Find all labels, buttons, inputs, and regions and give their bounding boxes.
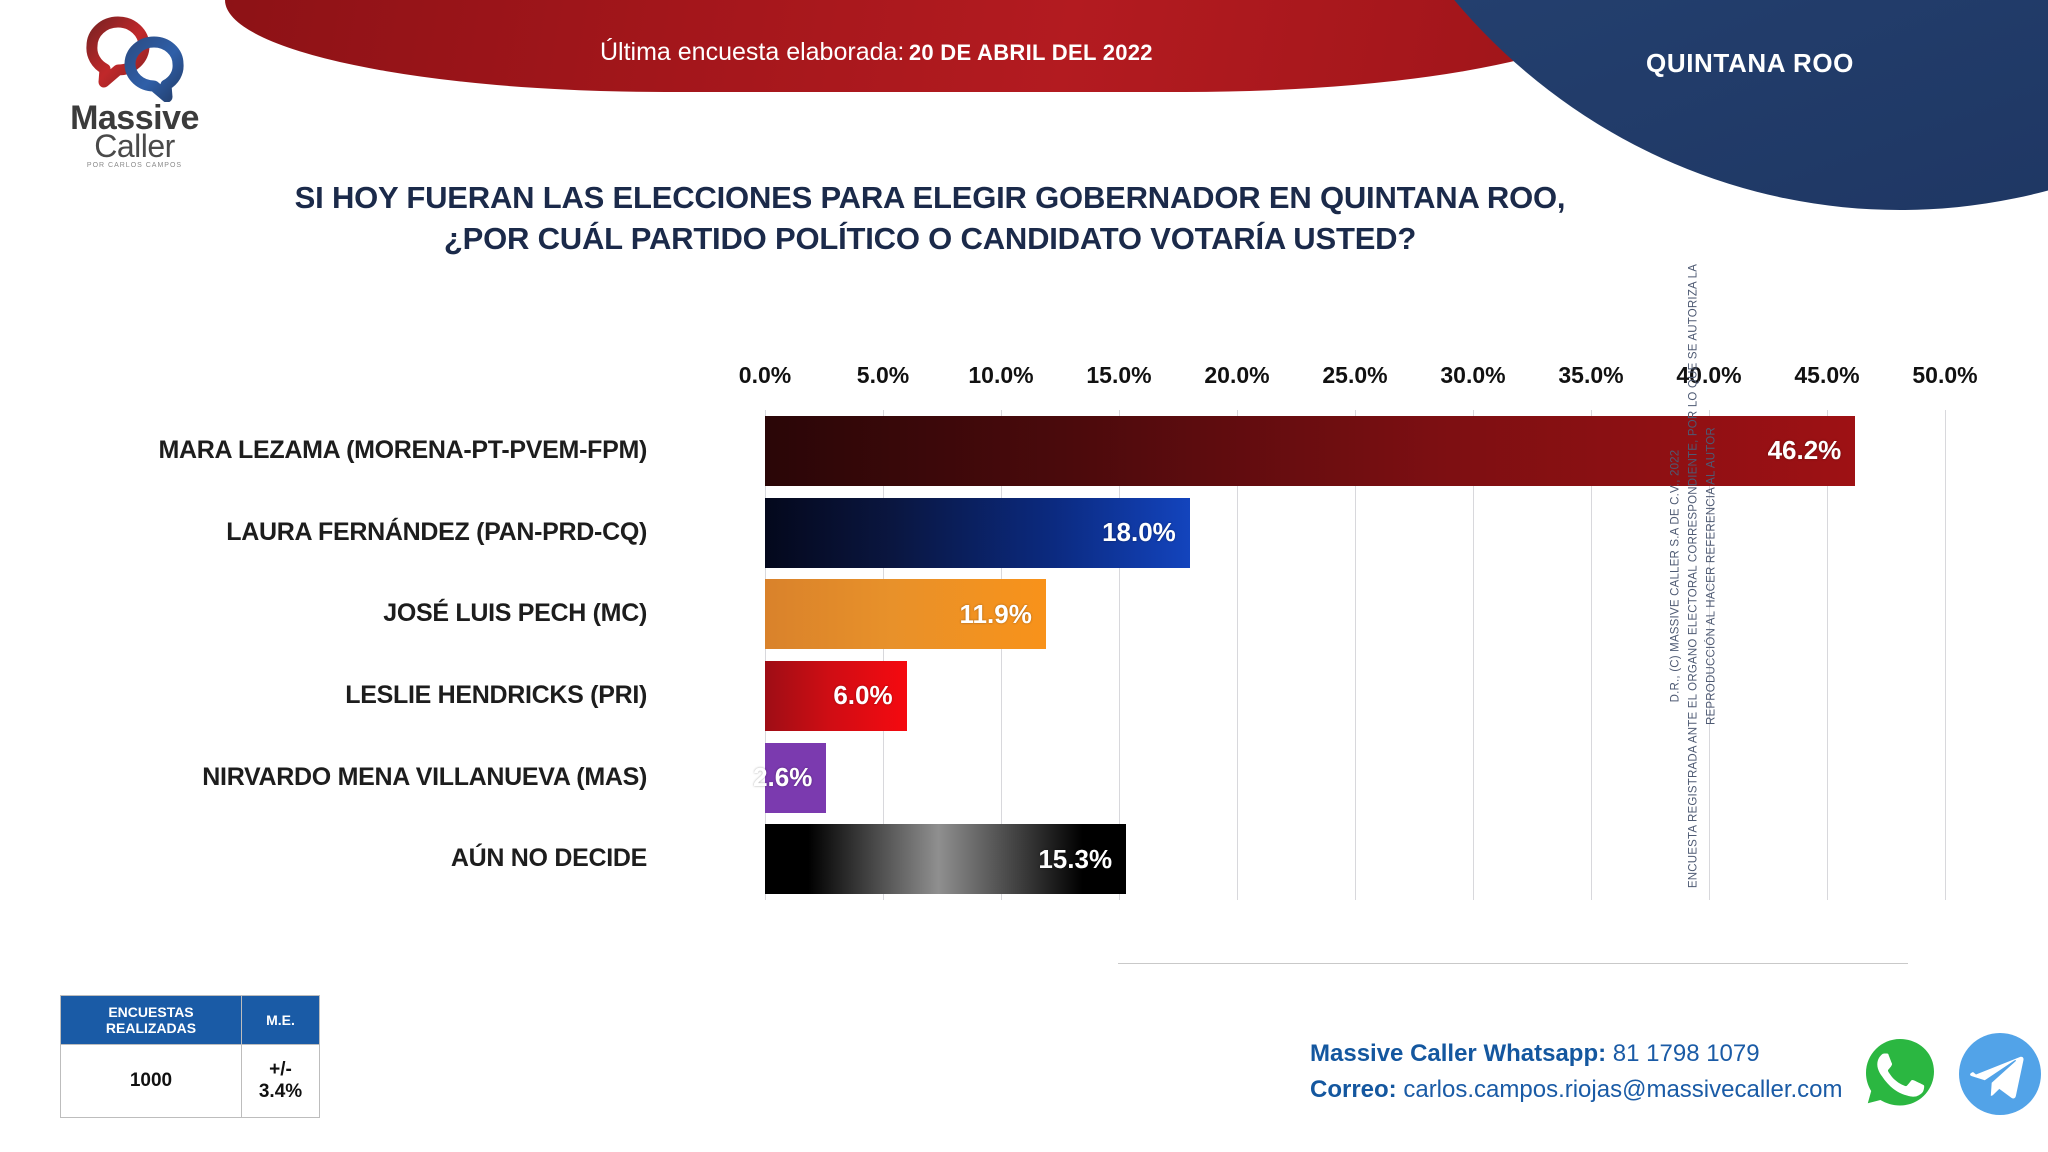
logo-subtitle: POR CARLOS CAMPOS bbox=[62, 162, 207, 169]
col-header-me: M.E. bbox=[242, 996, 320, 1045]
speech-bubbles-logo-icon bbox=[80, 16, 190, 102]
legal-line-2: ENCUESTA REGISTRADA ANTE EL ORGANO ELECT… bbox=[1685, 226, 1721, 926]
contact-whatsapp-line: Massive Caller Whatsapp: 81 1798 1079 bbox=[1310, 1036, 1843, 1072]
bar-value-label: 2.6% bbox=[753, 762, 812, 793]
bar-category-label: LAURA FERNÁNDEZ (PAN-PRD-CQ) bbox=[0, 518, 647, 547]
bar-value-label: 15.3% bbox=[1038, 844, 1112, 875]
x-tick-label: 10.0% bbox=[968, 362, 1033, 389]
chart-bar-row: 18.0%LAURA FERNÁNDEZ (PAN-PRD-CQ) bbox=[765, 498, 1945, 568]
chart-bar[interactable]: 11.9% bbox=[765, 579, 1046, 649]
telegram-icon[interactable] bbox=[1957, 1031, 2043, 1117]
chart-bar-row: 6.0%LESLIE HENDRICKS (PRI) bbox=[765, 661, 1945, 731]
chart-bar[interactable]: 15.3% bbox=[765, 824, 1126, 894]
contact-email-label: Correo: bbox=[1310, 1076, 1397, 1103]
bar-category-label: LESLIE HENDRICKS (PRI) bbox=[0, 681, 647, 710]
chart-bar-row: 11.9%JOSÉ LUIS PECH (MC) bbox=[765, 579, 1945, 649]
x-tick-label: 25.0% bbox=[1322, 362, 1387, 389]
cell-encuestas-value: 1000 bbox=[61, 1045, 242, 1118]
chart-bar[interactable]: 18.0% bbox=[765, 498, 1190, 568]
x-tick-label: 35.0% bbox=[1558, 362, 1623, 389]
bar-value-label: 6.0% bbox=[833, 680, 892, 711]
bar-value-label: 18.0% bbox=[1102, 517, 1176, 548]
bar-value-label: 46.2% bbox=[1768, 435, 1842, 466]
survey-stats-table: ENCUESTAS REALIZADAS M.E. 1000 +/- 3.4% bbox=[60, 995, 320, 1118]
x-tick-label: 45.0% bbox=[1794, 362, 1859, 389]
legal-line-1: D.R., (C) MASSIVE CALLER S.A DE C.V., 20… bbox=[1667, 226, 1685, 926]
last-poll-date: 20 DE ABRIL DEL 2022 bbox=[909, 40, 1153, 65]
last-poll-label: Última encuesta elaborada: bbox=[600, 38, 904, 66]
logo-text-caller: Caller bbox=[62, 131, 207, 161]
contact-whatsapp-value: 81 1798 1079 bbox=[1613, 1040, 1760, 1067]
bar-category-label: AÚN NO DECIDE bbox=[0, 844, 647, 873]
bar-category-label: NIRVARDO MENA VILLANUEVA (MAS) bbox=[0, 763, 647, 792]
footer-divider bbox=[1118, 963, 1908, 964]
poll-bar-chart: 0.0%5.0%10.0%15.0%20.0%25.0%30.0%35.0%40… bbox=[0, 330, 2048, 930]
x-tick-label: 20.0% bbox=[1204, 362, 1269, 389]
social-icons bbox=[1855, 1028, 2045, 1118]
page-title-line-2: ¿POR CUÁL PARTIDO POLÍTICO O CANDIDATO V… bbox=[80, 219, 1780, 260]
state-name: QUINTANA ROO bbox=[1600, 48, 1900, 79]
x-tick-label: 0.0% bbox=[739, 362, 791, 389]
col-header-encuestas: ENCUESTAS REALIZADAS bbox=[61, 996, 242, 1045]
chart-plot-area: 46.2%MARA LEZAMA (MORENA-PT-PVEM-FPM)18.… bbox=[765, 410, 1945, 900]
x-tick-label: 15.0% bbox=[1086, 362, 1151, 389]
table-row: 1000 +/- 3.4% bbox=[61, 1045, 320, 1118]
bar-category-label: MARA LEZAMA (MORENA-PT-PVEM-FPM) bbox=[0, 436, 647, 465]
page-title: SI HOY FUERAN LAS ELECCIONES PARA ELEGIR… bbox=[80, 178, 1780, 260]
x-tick-label: 5.0% bbox=[857, 362, 909, 389]
gridline bbox=[1945, 410, 1946, 900]
x-axis-tick-labels: 0.0%5.0%10.0%15.0%20.0%25.0%30.0%35.0%40… bbox=[0, 362, 2048, 396]
whatsapp-icon[interactable] bbox=[1855, 1028, 1945, 1118]
x-tick-label: 30.0% bbox=[1440, 362, 1505, 389]
massive-caller-logo: Massive Caller POR CARLOS CAMPOS bbox=[62, 12, 207, 162]
page-title-line-1: SI HOY FUERAN LAS ELECCIONES PARA ELEGIR… bbox=[80, 178, 1780, 219]
contact-whatsapp-label: Massive Caller Whatsapp: bbox=[1310, 1040, 1606, 1067]
cell-me-value: +/- 3.4% bbox=[242, 1045, 320, 1118]
bar-value-label: 11.9% bbox=[960, 599, 1032, 630]
table-header-row: ENCUESTAS REALIZADAS M.E. bbox=[61, 996, 320, 1045]
contact-email-line: Correo: carlos.campos.riojas@massivecall… bbox=[1310, 1072, 1843, 1108]
x-tick-label: 50.0% bbox=[1912, 362, 1977, 389]
legal-notice: D.R., (C) MASSIVE CALLER S.A DE C.V., 20… bbox=[1667, 226, 1720, 926]
chart-bar-row: 46.2%MARA LEZAMA (MORENA-PT-PVEM-FPM) bbox=[765, 416, 1945, 486]
contact-email-value: carlos.campos.riojas@massivecaller.com bbox=[1403, 1076, 1842, 1103]
chart-bar[interactable]: 2.6% bbox=[765, 743, 826, 813]
chart-bar-row: 15.3%AÚN NO DECIDE bbox=[765, 824, 1945, 894]
chart-bar-row: 2.6%NIRVARDO MENA VILLANUEVA (MAS) bbox=[765, 743, 1945, 813]
last-poll-date-block: Última encuesta elaborada: 20 DE ABRIL D… bbox=[600, 38, 1160, 67]
contact-block: Massive Caller Whatsapp: 81 1798 1079 Co… bbox=[1310, 1036, 1843, 1108]
bar-category-label: JOSÉ LUIS PECH (MC) bbox=[0, 599, 647, 628]
chart-bar[interactable]: 6.0% bbox=[765, 661, 907, 731]
